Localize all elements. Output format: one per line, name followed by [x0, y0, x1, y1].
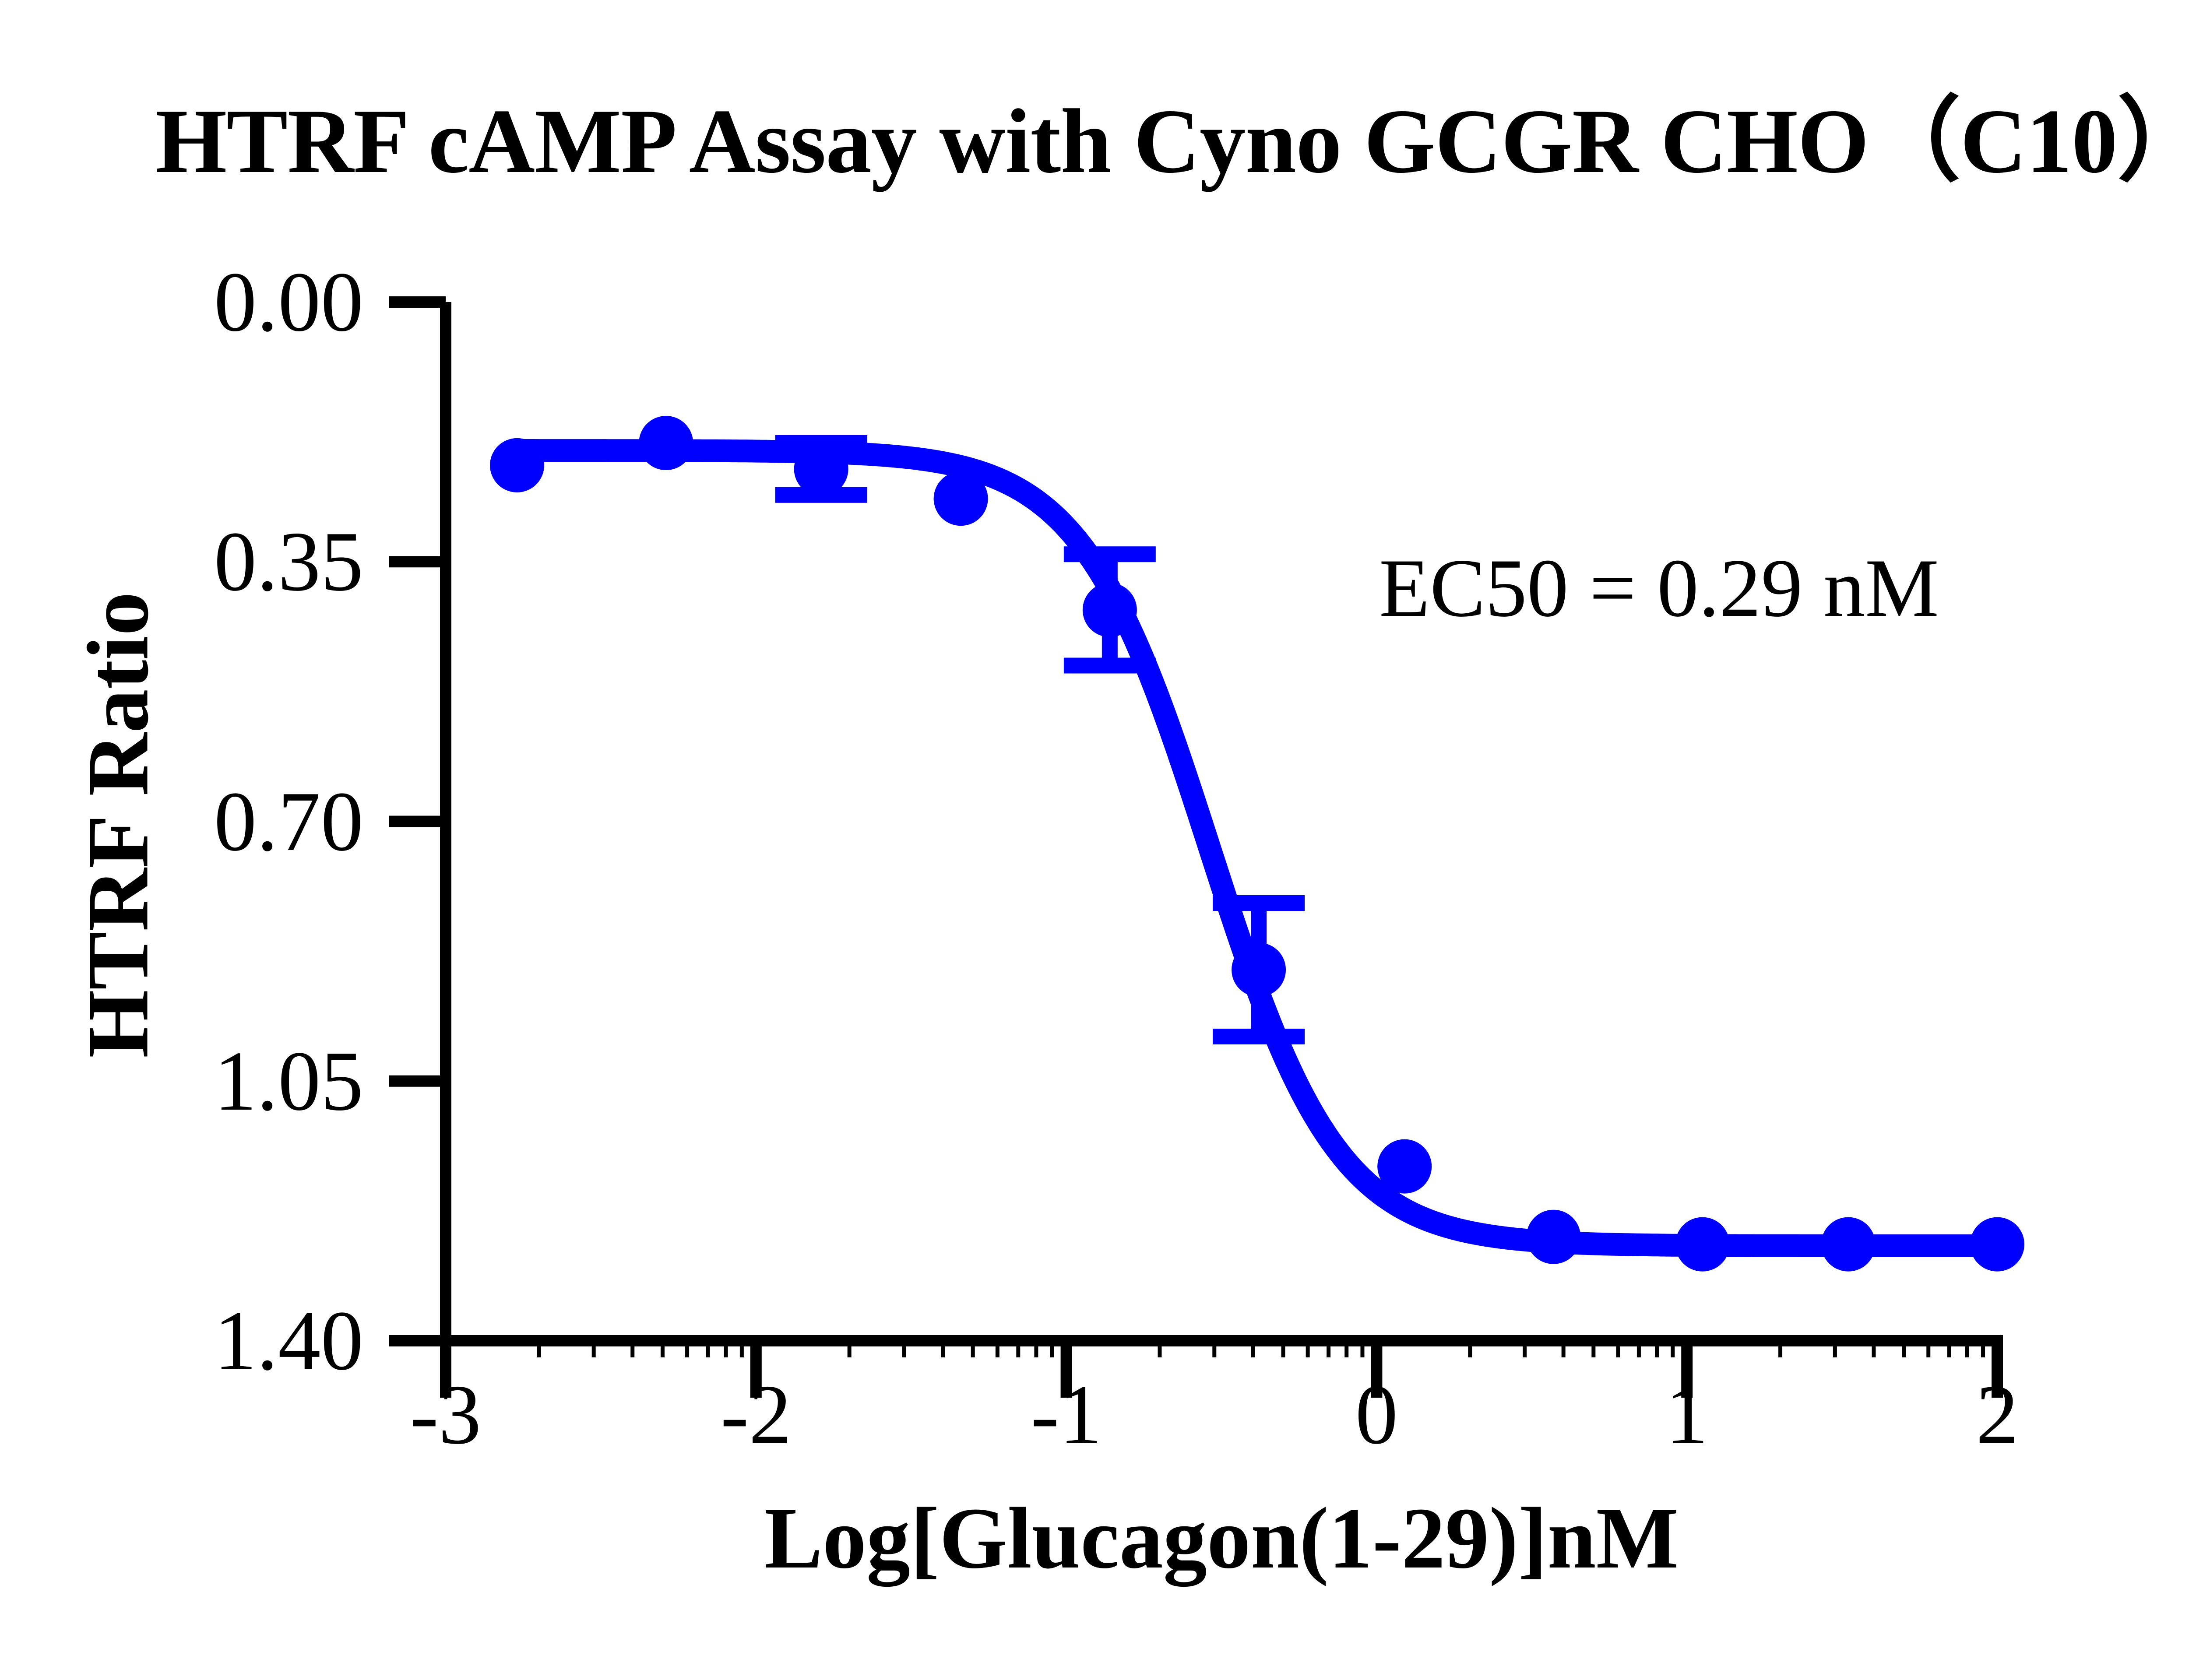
data-point	[1526, 1210, 1580, 1264]
error-bars	[775, 443, 1305, 1037]
data-point	[1970, 1217, 2024, 1272]
fit-curve	[517, 450, 1997, 1246]
data-point	[1821, 1217, 1876, 1272]
data-point	[1083, 583, 1137, 637]
dose-response-curve	[517, 450, 1997, 1246]
tick-marks	[389, 302, 1997, 1398]
data-point	[934, 471, 988, 526]
chart-root: HTRF cAMP Assay with Cyno GCGR CHO（C10） …	[0, 0, 2189, 1680]
data-point	[639, 416, 693, 470]
plot-area	[0, 0, 2189, 1680]
data-point	[1232, 943, 1286, 997]
data-point	[1675, 1217, 1730, 1272]
data-point	[794, 442, 848, 496]
data-point	[490, 438, 544, 492]
data-points	[490, 416, 2024, 1272]
data-point	[1377, 1139, 1432, 1194]
